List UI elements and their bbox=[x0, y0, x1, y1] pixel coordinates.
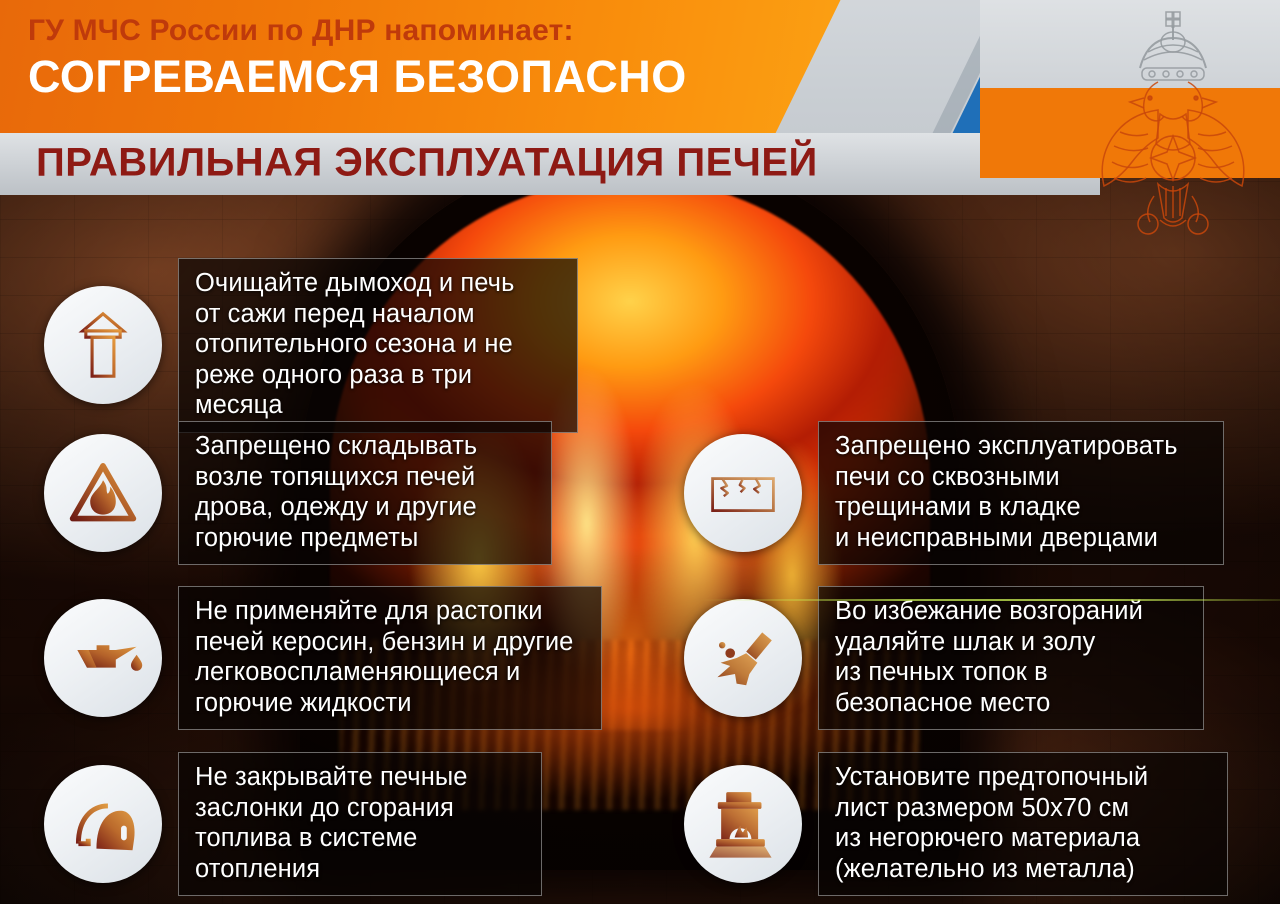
chimney-icon bbox=[44, 286, 162, 404]
safety-poster: ГУ МЧС России по ДНР напоминает: СОГРЕВА… bbox=[0, 0, 1280, 904]
broom-icon bbox=[684, 599, 802, 717]
tip-text: Запрещено складывать возле топящихся печ… bbox=[178, 421, 552, 565]
oil-can-icon bbox=[44, 599, 162, 717]
subtitle-text: ПРАВИЛЬНАЯ ЭКСПЛУАТАЦИЯ ПЕЧЕЙ bbox=[36, 141, 818, 186]
stove-icon bbox=[684, 765, 802, 883]
tip-item-no-storage-near-stove: Запрещено складывать возле топящихся печ… bbox=[44, 421, 552, 565]
flag-emblem-panel bbox=[980, 0, 1280, 260]
header-text-group: ГУ МЧС России по ДНР напоминает: СОГРЕВА… bbox=[28, 14, 687, 100]
tip-text: Не применяйте для растопки печей керосин… bbox=[178, 586, 602, 730]
tip-item-remove-ash-and-slag: Во избежание возгораний удаляйте шлак и … bbox=[684, 586, 1204, 730]
flammable-warning-triangle-icon bbox=[44, 434, 162, 552]
tip-text: Установите предтопочный лист размером 50… bbox=[818, 752, 1228, 896]
subtitle-bar: ПРАВИЛЬНАЯ ЭКСПЛУАТАЦИЯ ПЕЧЕЙ bbox=[0, 133, 1100, 195]
tip-text: Не закрывайте печные заслонки до сгорани… bbox=[178, 752, 542, 896]
tip-item-chimney-cleaning: Очищайте дымоход и печь от сажи перед на… bbox=[44, 258, 578, 433]
tip-text: Запрещено эксплуатировать печи со сквозн… bbox=[818, 421, 1224, 565]
stove-damper-icon bbox=[44, 765, 162, 883]
tip-text: Очищайте дымоход и печь от сажи перед на… bbox=[178, 258, 578, 433]
tip-item-no-flammable-liquids: Не применяйте для растопки печей керосин… bbox=[44, 586, 602, 730]
tip-item-no-cracked-masonry: Запрещено эксплуатировать печи со сквозн… bbox=[684, 421, 1224, 565]
cracked-masonry-icon bbox=[684, 434, 802, 552]
page-title: СОГРЕВАЕМСЯ БЕЗОПАСНО bbox=[28, 53, 687, 100]
decorative-light-streak bbox=[700, 599, 1280, 601]
tip-item-do-not-close-damper: Не закрывайте печные заслонки до сгорани… bbox=[44, 752, 542, 896]
tip-text: Во избежание возгораний удаляйте шлак и … bbox=[818, 586, 1204, 730]
emercom-double-headed-eagle-emblem bbox=[1088, 6, 1258, 246]
header-kicker: ГУ МЧС России по ДНР напоминает: bbox=[28, 14, 687, 47]
tip-item-install-hearth-sheet: Установите предтопочный лист размером 50… bbox=[684, 752, 1228, 896]
